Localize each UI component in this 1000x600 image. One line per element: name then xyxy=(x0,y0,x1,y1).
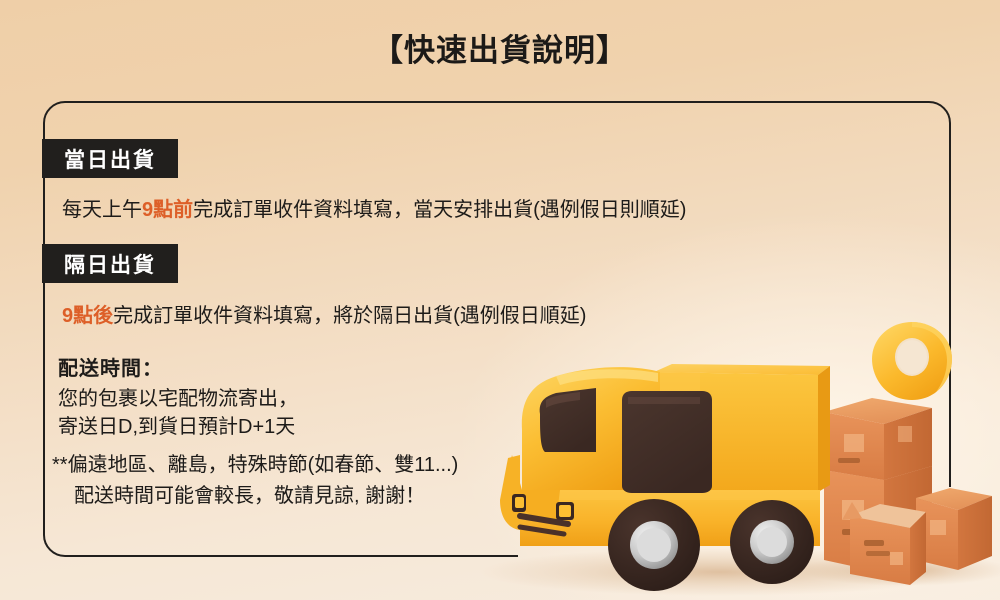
page-title: 【快速出貨說明】 xyxy=(0,25,1000,70)
remote-area-note-line-1: **偏遠地區、離島，特殊時節(如春節、雙11...) xyxy=(52,448,458,477)
same-day-rule-prefix: 每天上午 xyxy=(62,199,142,221)
badge-next-day-shipping: 隔日出貨 xyxy=(42,244,178,283)
same-day-rule-text: 每天上午9點前完成訂單收件資料填寫，當天安排出貨(遇例假日則順延) xyxy=(62,193,686,222)
badge-same-day-label: 當日出貨 xyxy=(64,144,156,174)
same-day-rule-highlight: 9點前 xyxy=(142,199,193,221)
shipping-info-banner: 【快速出貨說明】 當日出貨 隔日出貨 每天上午9點前完成訂單收件資料填寫，當天安… xyxy=(0,0,1000,600)
delivery-time-line-2: 寄送日D,到貨日預計D+1天 xyxy=(58,410,295,439)
boxes-shadow xyxy=(800,554,1000,586)
badge-next-day-label: 隔日出貨 xyxy=(64,249,156,279)
same-day-rule-suffix: 完成訂單收件資料填寫，當天安排出貨(遇例假日則順延) xyxy=(193,199,686,221)
next-day-rule-text: 9點後完成訂單收件資料填寫，將於隔日出貨(遇例假日順延) xyxy=(62,299,586,328)
remote-area-note-line-2: 配送時間可能會較長，敬請見諒, 謝謝！ xyxy=(74,479,425,508)
badge-same-day-shipping: 當日出貨 xyxy=(42,139,178,178)
delivery-time-heading: 配送時間： xyxy=(58,352,163,381)
next-day-rule-highlight: 9點後 xyxy=(62,305,113,327)
delivery-time-line-1: 您的包裹以宅配物流寄出， xyxy=(58,382,298,411)
next-day-rule-suffix: 完成訂單收件資料填寫，將於隔日出貨(遇例假日順延) xyxy=(113,305,586,327)
